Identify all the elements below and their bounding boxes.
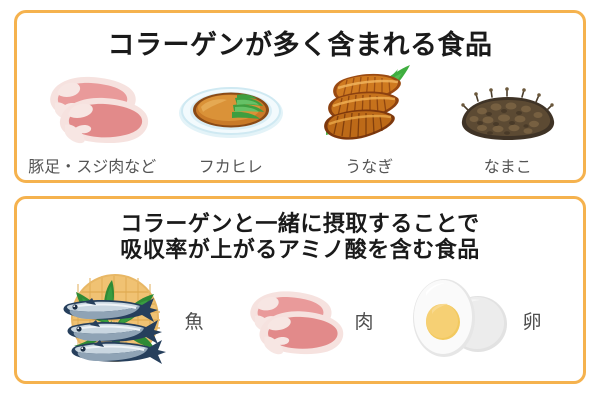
item-shark-fin: フカヒレ <box>162 65 301 177</box>
item-eel-label: うなぎ <box>345 153 393 177</box>
item-meat-label: 肉 <box>354 307 373 334</box>
item-egg-label: 卵 <box>522 307 541 334</box>
saury-fish-icon <box>58 272 176 369</box>
panel-2-title-line-1: コラーゲンと一緒に摂取することで <box>17 211 583 237</box>
boiled-eggs-icon <box>404 276 514 365</box>
infographic-canvas: コラーゲンが多く含まれる食品 <box>0 0 600 400</box>
grilled-eel-icon <box>314 59 424 150</box>
panel-2-items-row: 魚 <box>17 267 583 379</box>
item-sea-cucumber: なまこ <box>439 83 578 177</box>
sea-cucumber-icon <box>452 83 564 150</box>
item-fish: 魚 <box>58 272 203 369</box>
item-sea-cucumber-label: なまこ <box>484 153 532 177</box>
panel-2-title-line-2: 吸収率が上がるアミノ酸を含む食品 <box>17 237 583 263</box>
panel-collagen-rich-foods: コラーゲンが多く含まれる食品 <box>14 10 586 183</box>
panel-2-title: コラーゲンと一緒に摂取することで 吸収率が上がるアミノ酸を含む食品 <box>17 211 583 263</box>
panel-amino-acid-absorption-foods: コラーゲンと一緒に摂取することで 吸収率が上がるアミノ酸を含む食品 <box>14 196 586 384</box>
item-egg: 卵 <box>404 276 541 365</box>
item-pork: 豚足・スジ肉など <box>23 65 162 177</box>
item-meat: 肉 <box>234 279 373 362</box>
item-pork-label: 豚足・スジ肉など <box>28 153 156 177</box>
shark-fin-soup-icon <box>175 65 287 150</box>
pork-chops-icon <box>234 279 346 362</box>
pork-chops-icon <box>33 65 151 150</box>
item-eel: うなぎ <box>300 59 439 177</box>
item-fish-label: 魚 <box>184 307 203 334</box>
item-shark-fin-label: フカヒレ <box>199 153 263 177</box>
panel-1-items-row: 豚足・スジ肉など <box>17 57 583 177</box>
